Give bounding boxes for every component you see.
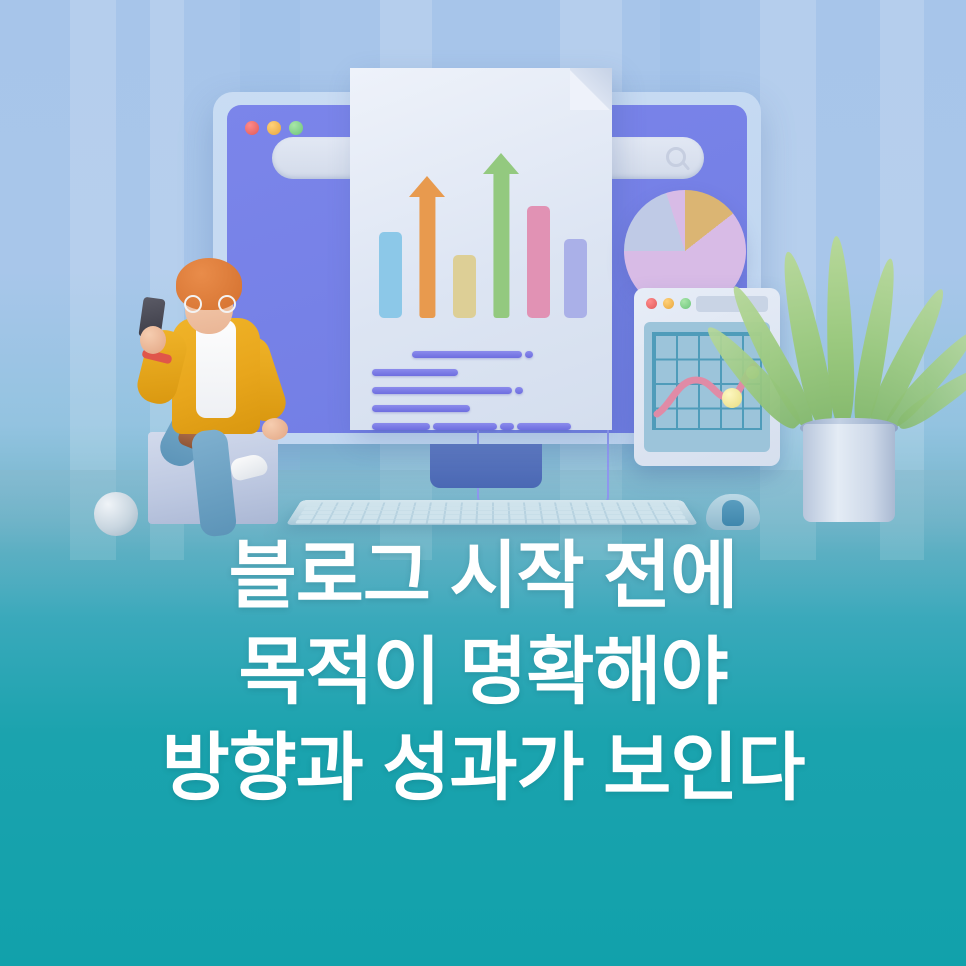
character-shirt bbox=[196, 320, 236, 418]
computer-mouse[interactable] bbox=[706, 494, 760, 530]
chart-bar bbox=[379, 232, 402, 318]
glasses-icon bbox=[184, 295, 236, 313]
document-text-line bbox=[517, 423, 571, 430]
chart-bar bbox=[527, 206, 550, 319]
poster-canvas: 블로그 시작 전에 목적이 명확해야 방향과 성과가 보인다 bbox=[0, 0, 966, 966]
character-right-hand bbox=[262, 418, 288, 440]
document-text-line bbox=[372, 387, 512, 394]
chart-bar bbox=[453, 255, 476, 318]
minimize-dot-icon[interactable] bbox=[267, 121, 281, 135]
monitor-stand bbox=[430, 444, 542, 488]
headline-line-3: 방향과 성과가 보인다 bbox=[0, 720, 966, 816]
search-icon bbox=[666, 147, 686, 167]
maximize-dot-icon[interactable] bbox=[680, 298, 691, 309]
maximize-dot-icon[interactable] bbox=[289, 121, 303, 135]
report-sheet bbox=[350, 68, 612, 430]
keyboard-row bbox=[306, 502, 679, 506]
document-text-line bbox=[525, 351, 533, 358]
bar-chart bbox=[372, 136, 594, 318]
glasses-right-lens bbox=[218, 295, 236, 313]
document-text-row bbox=[372, 386, 594, 422]
document-text-line bbox=[500, 423, 514, 430]
keyboard-row bbox=[295, 520, 689, 524]
document-text-lines bbox=[372, 350, 594, 440]
document-text-row bbox=[372, 350, 594, 386]
plant-pot bbox=[803, 424, 895, 522]
close-dot-icon[interactable] bbox=[646, 298, 657, 309]
chart-arrow bbox=[490, 153, 513, 318]
mouse-button[interactable] bbox=[722, 500, 744, 526]
headline-line-2: 목적이 명확해야 bbox=[0, 624, 966, 720]
document-text-line bbox=[372, 405, 470, 412]
character-left-hand bbox=[140, 326, 166, 354]
headline-block: 블로그 시작 전에 목적이 명확해야 방향과 성과가 보인다 bbox=[0, 528, 966, 817]
document-text-line bbox=[433, 423, 497, 430]
document-text-line bbox=[515, 387, 523, 394]
document-text-line bbox=[412, 351, 522, 358]
document-text-line bbox=[372, 423, 430, 430]
page-fold-corner bbox=[570, 68, 612, 110]
minimize-dot-icon[interactable] bbox=[663, 298, 674, 309]
headline-line-1: 블로그 시작 전에 bbox=[0, 528, 966, 624]
keyboard[interactable] bbox=[286, 500, 698, 525]
close-dot-icon[interactable] bbox=[245, 121, 259, 135]
keyboard-row bbox=[300, 511, 683, 515]
document-text-row bbox=[372, 422, 594, 440]
chart-arrow bbox=[416, 176, 439, 318]
keyboard-row bbox=[298, 515, 686, 519]
chart-bar bbox=[564, 239, 587, 318]
document-text-line bbox=[372, 369, 458, 376]
line-chart-marker bbox=[722, 388, 742, 408]
glasses-left-lens bbox=[184, 295, 202, 313]
keyboard-row bbox=[303, 507, 681, 511]
